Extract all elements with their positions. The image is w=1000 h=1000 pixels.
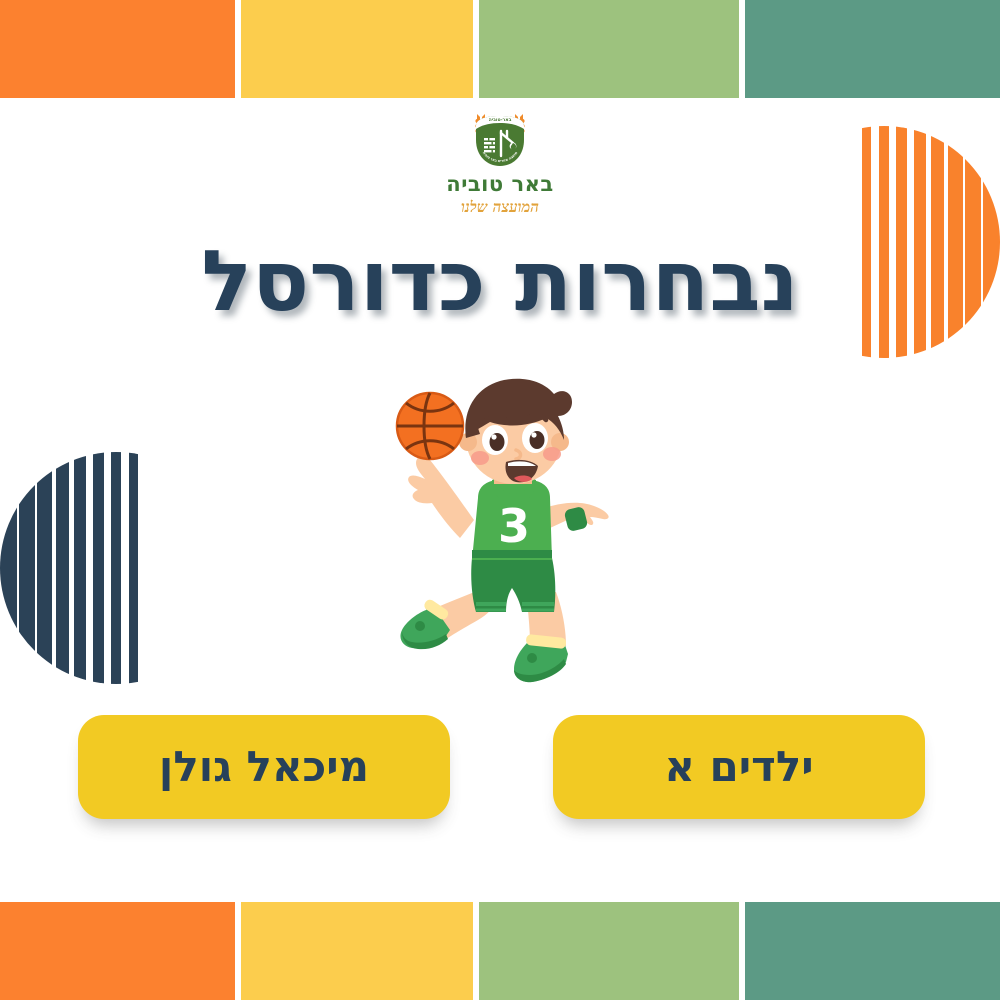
jersey-number-text: 3 — [498, 499, 530, 553]
bottom-band-segment-2 — [241, 902, 473, 1000]
bottom-band-segment-0 — [0, 902, 235, 1000]
striped-half-circle-navy — [0, 452, 138, 684]
emblem-motto-text: באר-טוביה — [489, 118, 512, 123]
stripe — [129, 452, 138, 684]
page-title: נבחרות כדורסל — [0, 236, 1000, 327]
top-color-band-strip — [0, 0, 1000, 98]
team-name-button[interactable]: ילדים א — [553, 715, 925, 819]
bottom-band-segment-6 — [745, 902, 1000, 1000]
boy-basketball-player-illustration: 3 — [380, 360, 630, 690]
stripe — [56, 452, 70, 684]
top-band-segment-4 — [479, 0, 739, 98]
organization-logo: באר-טוביה — [0, 104, 1000, 215]
stripe — [111, 452, 121, 684]
stripe — [0, 452, 17, 684]
top-band-segment-0 — [0, 0, 235, 98]
logo-tagline-text: המועצה שלנו — [0, 200, 1000, 215]
coach-name-button[interactable]: מיכאל גולן — [78, 715, 450, 819]
beer-tuvia-emblem-icon: באר-טוביה — [463, 104, 537, 172]
logo-name-text: באר טוביה — [0, 174, 1000, 195]
stripe — [93, 452, 104, 684]
bottom-band-segment-4 — [479, 902, 739, 1000]
stripe — [74, 452, 86, 684]
poster-canvas: באר-טוביה — [0, 0, 1000, 1000]
stripe — [19, 452, 35, 684]
bottom-color-band-strip — [0, 902, 1000, 1000]
top-band-segment-2 — [241, 0, 473, 98]
top-band-segment-6 — [745, 0, 1000, 98]
stripe — [37, 452, 52, 684]
